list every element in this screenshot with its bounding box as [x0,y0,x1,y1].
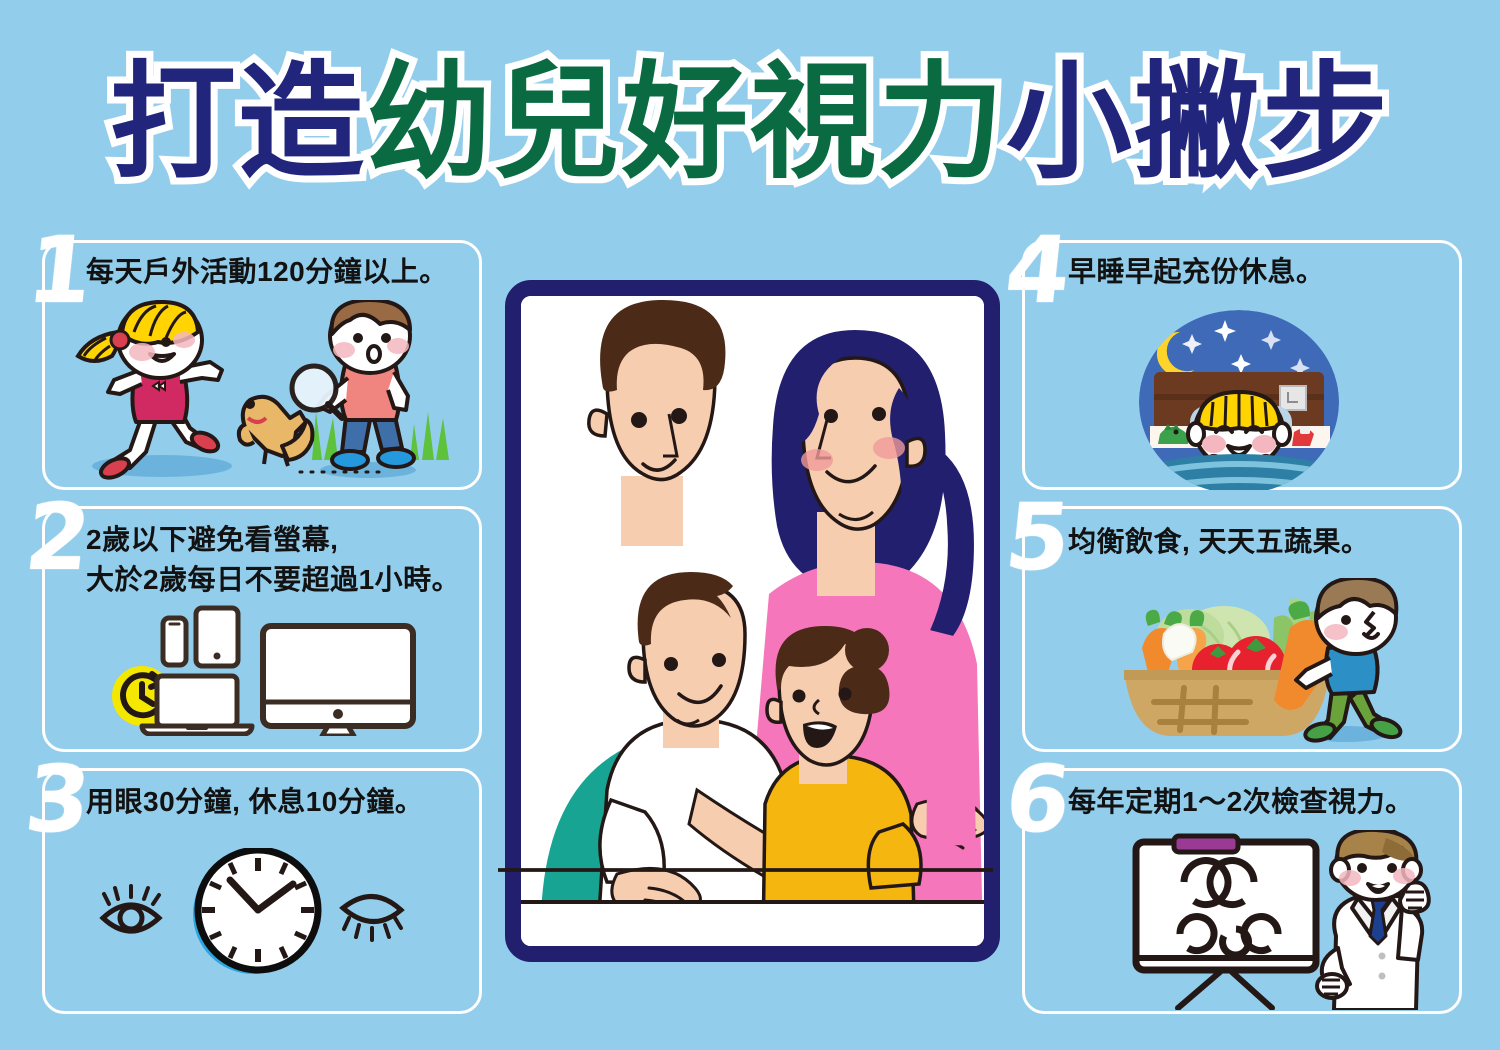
panel-4-line-1: 早睡早起充份休息。 [1068,252,1448,292]
panel-4-text: 早睡早起充份休息。 [1068,252,1448,292]
panel-2-line-2: 大於2歲每日不要超過1小時。 [86,560,476,600]
panel-6-illustration [1100,830,1440,1010]
panel-2-illustration [100,604,420,736]
panel-3-illustration [95,848,405,978]
family-illustration [521,296,984,946]
open-eye-icon [103,886,159,931]
closed-eye-icon [343,896,401,940]
poster-root: 打造幼兒好視力小撇步 1 每天戶外活動120分鐘以上。 [0,0,1500,1050]
panel-2-text: 2歲以下避免看螢幕, 大於2歲每日不要超過1小時。 [86,520,476,600]
panel-2-line-1: 2歲以下避免看螢幕, [86,520,476,560]
panel-5-illustration [1078,578,1418,744]
title-part-3: 小撇步 [1006,52,1390,193]
panel-6-line-1: 每年定期1～2次檢查視力。 [1068,782,1458,822]
panel-5-line-1: 均衡飲食, 天天五蔬果。 [1068,522,1458,562]
panel-6-text: 每年定期1～2次檢查視力。 [1068,782,1458,822]
title-part-1: 打造 [110,52,366,193]
panel-5-text: 均衡飲食, 天天五蔬果。 [1068,522,1458,562]
panel-4-illustration [1128,310,1350,490]
panel-1-line-1: 每天戶外活動120分鐘以上。 [86,252,466,292]
family-photo-frame [505,280,1000,962]
title-part-2: 幼兒好視力 [366,52,1006,193]
panel-1-text: 每天戶外活動120分鐘以上。 [86,252,466,292]
page-title: 打造幼兒好視力小撇步 [0,48,1500,198]
panel-1-illustration [50,300,475,485]
panel-3-line-1: 用眼30分鐘, 休息10分鐘。 [86,782,466,822]
panel-3-text: 用眼30分鐘, 休息10分鐘。 [86,782,466,822]
